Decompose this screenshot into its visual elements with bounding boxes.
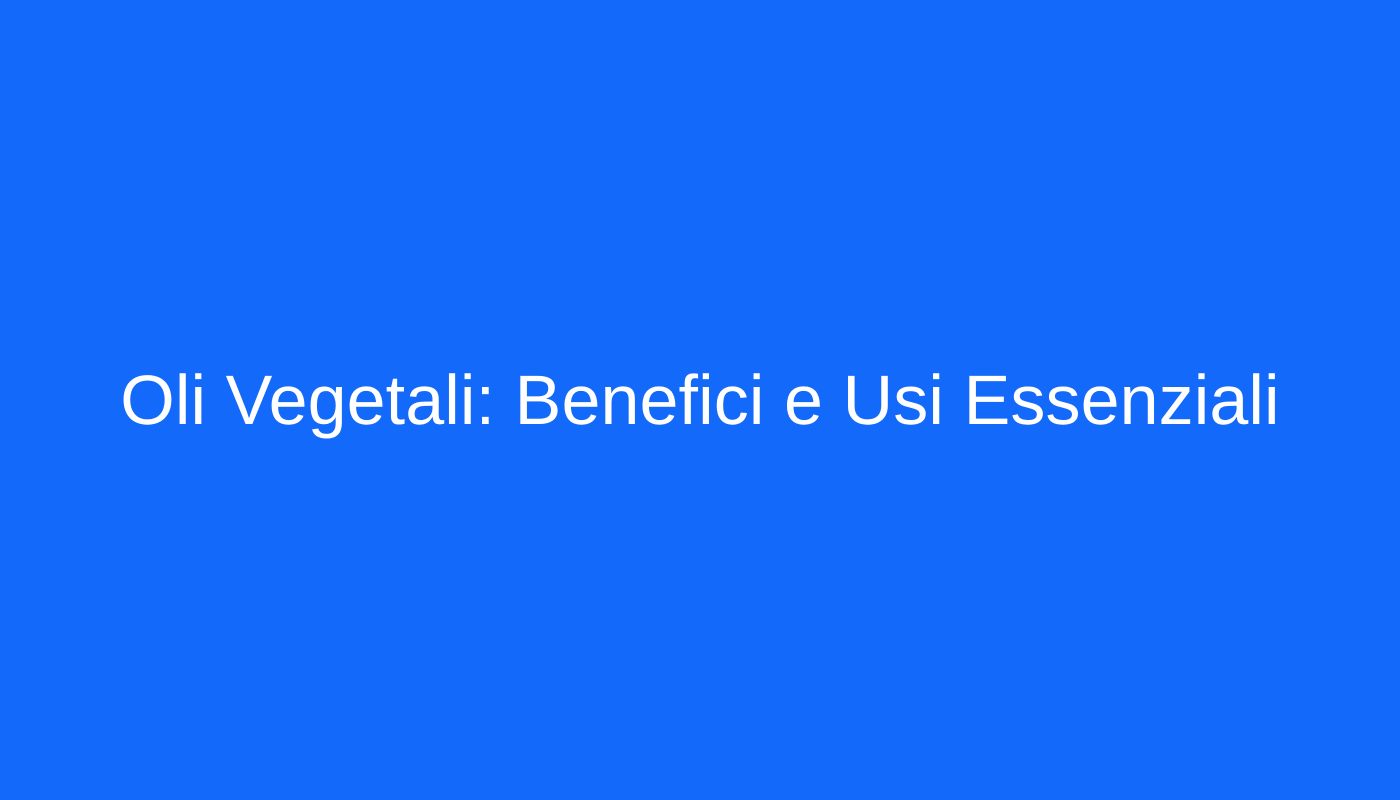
hero-content: Oli Vegetali: Benefici e Usi Essenziali: [40, 359, 1360, 442]
page-title: Oli Vegetali: Benefici e Usi Essenziali: [40, 359, 1360, 442]
hero-banner: Oli Vegetali: Benefici e Usi Essenziali: [0, 0, 1400, 800]
